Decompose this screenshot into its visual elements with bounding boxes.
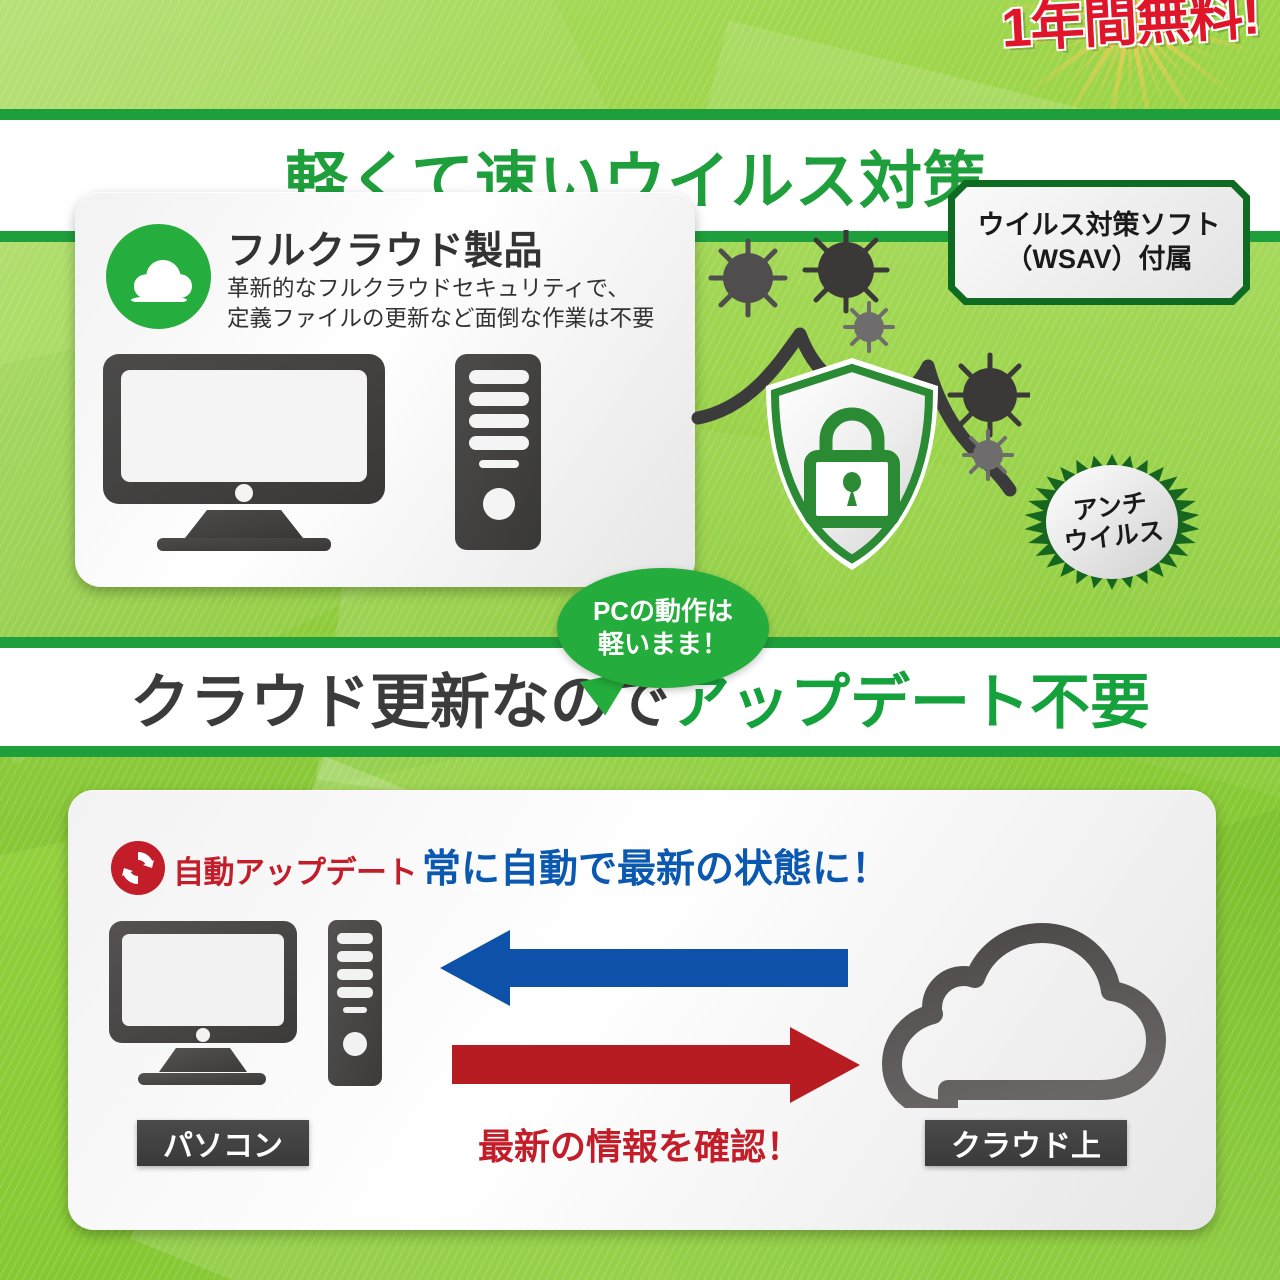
speech-bubble: PCの動作は 軽いまま！ [557, 568, 769, 688]
virus-icon-cluster [700, 230, 1030, 490]
tag-cloud: クラウド上 [925, 1120, 1127, 1166]
desktop-pc-icon [106, 918, 324, 1090]
desktop-pc-icon [99, 350, 449, 555]
speech-bubble-line1: PCの動作は [593, 595, 733, 628]
cloud-outline-icon [876, 900, 1172, 1108]
check-latest-label: 最新の情報を確認！ [478, 1118, 802, 1170]
arrow-right-red [450, 1025, 860, 1105]
always-latest-headline: 常に自動で最新の状態に！ [422, 838, 890, 894]
card-description-line1: 革新的なフルクラウドセキュリティで、 [227, 274, 655, 304]
arrow-left-blue [440, 925, 850, 1010]
pc-tower-icon [326, 918, 384, 1088]
speech-bubble-body: PCの動作は 軽いまま！ [557, 568, 769, 688]
tag-pc: パソコン [137, 1120, 309, 1166]
antivirus-badge-label: アンチ ウイルス [1013, 432, 1211, 613]
pc-tower-icon [453, 352, 543, 552]
cloud-icon [106, 224, 211, 329]
full-cloud-product-card: フルクラウド製品 革新的なフルクラウドセキュリティで、 定義ファイルの更新など面… [75, 192, 695, 587]
update-rule-bottom [0, 746, 1280, 757]
auto-update-label: 自動アップデート [173, 847, 417, 892]
header-rule-top [0, 109, 1280, 120]
virus-icon [711, 230, 1030, 479]
refresh-icon [110, 840, 166, 896]
card-title: フルクラウド製品 [227, 220, 543, 276]
wsav-label-line2: （WSAV）付属 [1006, 243, 1193, 277]
card-description: 革新的なフルクラウドセキュリティで、 定義ファイルの更新など面倒な作業は不要 [227, 274, 655, 333]
speech-bubble-line2: 軽いまま！ [598, 628, 728, 661]
antivirus-starburst-badge: アンチ ウイルス [1022, 442, 1202, 602]
card-description-line2: 定義ファイルの更新など面倒な作業は不要 [227, 304, 655, 334]
